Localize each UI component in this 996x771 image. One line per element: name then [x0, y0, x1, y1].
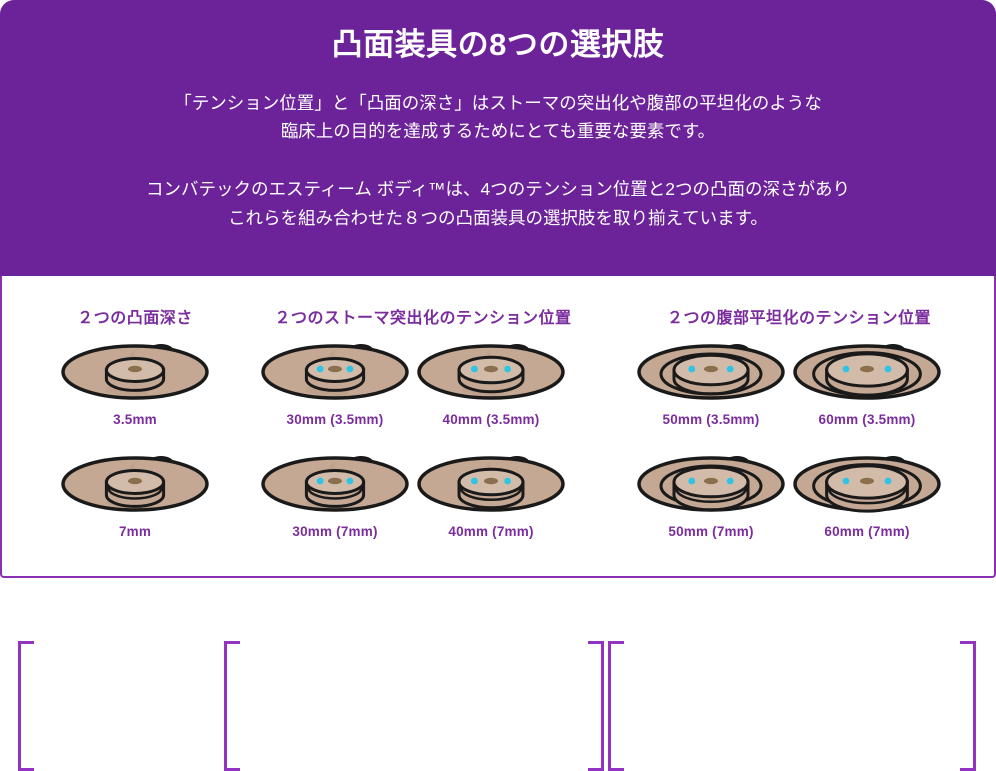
device-cell-depth-7: 7mm	[42, 444, 228, 556]
intro-paragraph-2-line-2: これらを組み合わせた８つの凸面装具の選択肢を取り揃えています。	[40, 204, 956, 232]
device-label-flat-60-3-5: 60mm (3.5mm)	[774, 412, 960, 427]
device-label-depth-3-5: 3.5mm	[42, 412, 228, 427]
device-cell-stoma-40-7: 40mm (7mm)	[398, 444, 584, 556]
bracket-depth-open	[18, 641, 34, 771]
bracket-flatten-close	[960, 641, 976, 771]
device-illustration	[42, 444, 228, 524]
device-cell-stoma-40-3-5: 40mm (3.5mm)	[398, 332, 584, 444]
bracket-flatten-open	[608, 641, 624, 771]
device-graphic-depth-7	[42, 444, 228, 524]
bracket-stoma-close	[588, 641, 604, 771]
intro-paragraph-1-line-2: 臨床上の目的を達成するためにとても重要な要素です。	[40, 117, 956, 145]
device-graphic-depth-3-5	[42, 332, 228, 412]
column-heading-abdominal-flattening: ２つの腹部平坦化のテンション位置	[614, 304, 984, 328]
intro-paragraph-1: 「テンション位置」と「凸面の深さ」はストーマの突出化や腹部の平坦化のような 臨床…	[40, 89, 956, 146]
header-banner: 凸面装具の8つの選択肢 「テンション位置」と「凸面の深さ」はストーマの突出化や腹…	[0, 0, 996, 278]
device-label-stoma-40-7: 40mm (7mm)	[398, 524, 584, 539]
device-illustration	[42, 332, 228, 412]
device-illustration	[774, 444, 960, 524]
device-graphic-stoma-40-3-5	[398, 332, 584, 412]
column-heading-stoma-protrusion: ２つのストーマ突出化のテンション位置	[238, 304, 608, 328]
diagram-panel: ２つの凸面深さ ２つのストーマ突出化のテンション位置 ２つの腹部平坦化のテンショ…	[0, 276, 996, 578]
page-title: 凸面装具の8つの選択肢	[40, 26, 956, 65]
intro-paragraph-2-line-1: コンバテックのエスティーム ボディ™は、4つのテンション位置と2つの凸面の深さが…	[40, 175, 956, 203]
intro-paragraph-2: コンバテックのエスティーム ボディ™は、4つのテンション位置と2つの凸面の深さが…	[40, 175, 956, 232]
device-label-stoma-40-3-5: 40mm (3.5mm)	[398, 412, 584, 427]
device-label-depth-7: 7mm	[42, 524, 228, 539]
device-cell-depth-3-5: 3.5mm	[42, 332, 228, 444]
device-graphic-flat-60-7	[774, 444, 960, 524]
device-illustration	[398, 332, 584, 412]
intro-paragraph-1-line-1: 「テンション位置」と「凸面の深さ」はストーマの突出化や腹部の平坦化のような	[40, 89, 956, 117]
column-headings: ２つの凸面深さ ２つのストーマ突出化のテンション位置 ２つの腹部平坦化のテンショ…	[2, 304, 996, 330]
device-illustration	[398, 444, 584, 524]
device-cell-flat-60-3-5: 60mm (3.5mm)	[774, 332, 960, 444]
device-illustration	[774, 332, 960, 412]
device-graphic-flat-60-3-5	[774, 332, 960, 412]
convexity-options-infographic: 凸面装具の8つの選択肢 「テンション位置」と「凸面の深さ」はストーマの突出化や腹…	[0, 0, 996, 578]
device-cell-flat-60-7: 60mm (7mm)	[774, 444, 960, 556]
column-heading-depth: ２つの凸面深さ	[36, 304, 234, 328]
device-graphic-stoma-40-7	[398, 444, 584, 524]
device-grid: 3.5mm30mm (3.5mm)40mm (3.5mm)50mm (3.5mm…	[2, 332, 996, 572]
bracket-stoma-open	[224, 641, 240, 771]
device-label-flat-60-7: 60mm (7mm)	[774, 524, 960, 539]
